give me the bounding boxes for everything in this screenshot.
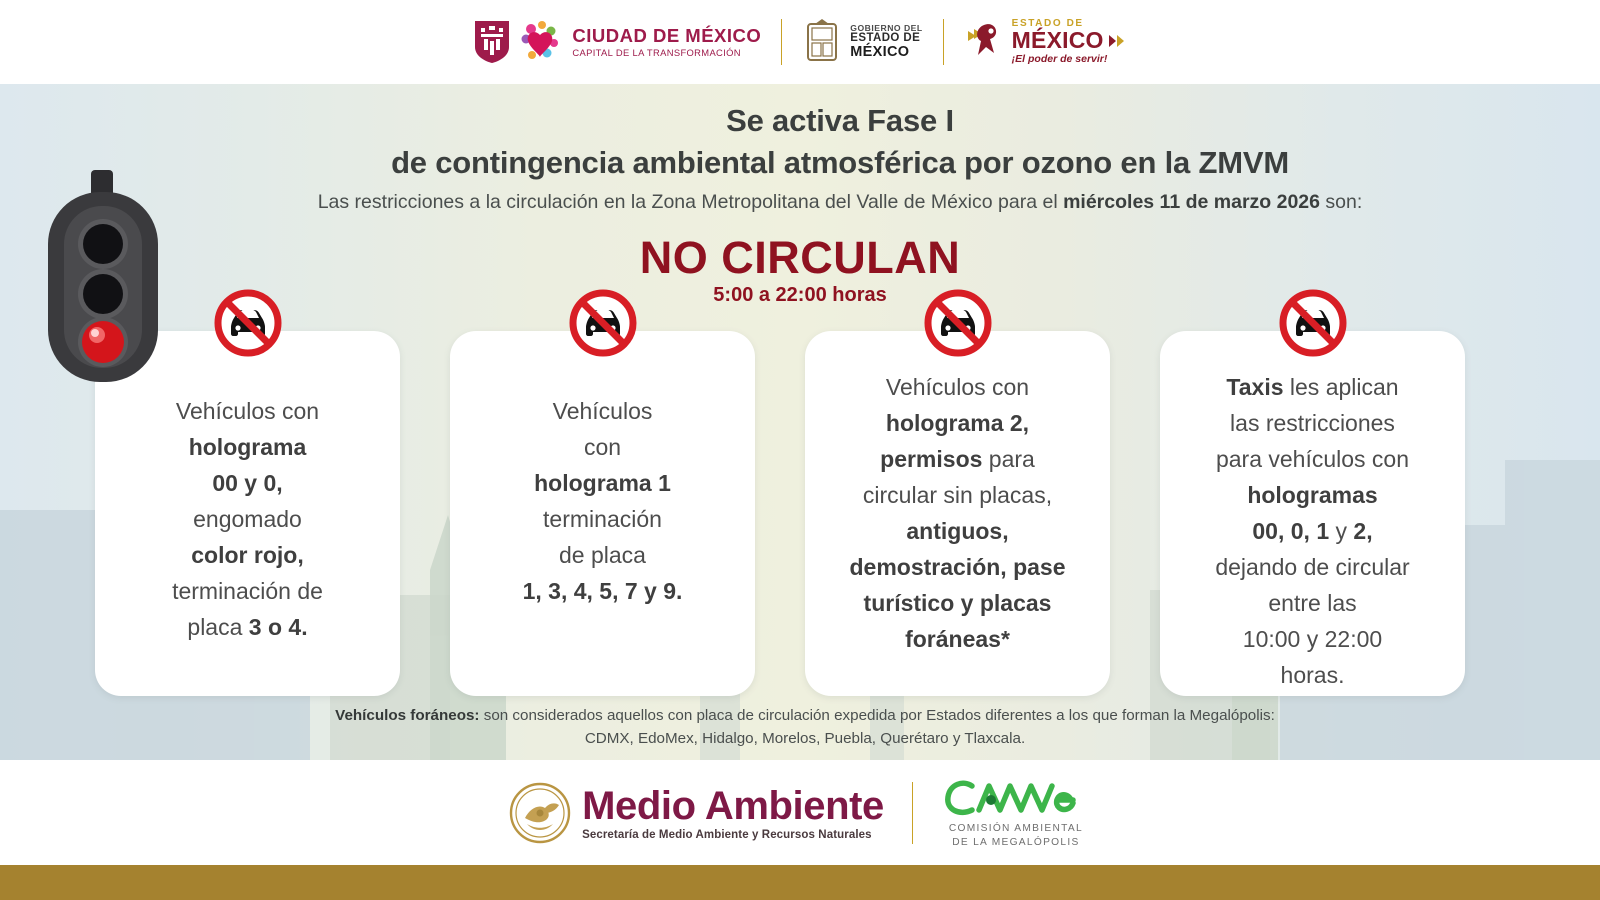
edomex-line3: MÉXICO — [850, 45, 922, 60]
foreign-vehicles-footnote: Vehículos foráneos: son considerados aqu… — [160, 704, 1450, 750]
headline-line-2: de contingencia ambiental atmosférica po… — [190, 142, 1490, 184]
edomex-bird-icon — [964, 19, 1008, 65]
card-text: Vehículos conholograma 2,permisos paraci… — [821, 369, 1094, 657]
no-car-icon — [211, 286, 285, 360]
subtitle-post: son: — [1320, 191, 1362, 213]
cdmx-logo: CIUDAD DE MÉXICO CAPITAL DE LA TRANSFORM… — [473, 17, 761, 67]
estado-mexico-wordmark: ESTADO DE MÉXICO ¡El poder de servir! — [1012, 19, 1127, 65]
footer-divider — [912, 782, 913, 844]
footnote-label: Vehículos foráneos: — [335, 707, 479, 724]
cdmx-title: CIUDAD DE MÉXICO — [572, 26, 761, 46]
cdmx-shield-icon — [473, 19, 511, 65]
emex-line3: ¡El poder de servir! — [1012, 54, 1108, 65]
estado-de-mexico-logo: ESTADO DE MÉXICO ¡El poder de servir! — [964, 19, 1127, 65]
came-logo: COMISIÓN AMBIENTAL DE LA MEGALÓPOLIS — [941, 776, 1091, 850]
headline-line-1: Se activa Fase I — [190, 100, 1490, 142]
emex-chevrons-icon — [1107, 32, 1127, 50]
traffic-light-red-icon — [28, 170, 178, 400]
no-circulan-banner: NO CIRCULAN — [0, 232, 1600, 284]
cdmx-wordmark: CIUDAD DE MÉXICO CAPITAL DE LA TRANSFORM… — [572, 26, 761, 59]
subtitle-date: miércoles 11 de marzo 2026 — [1063, 191, 1320, 213]
emex-line2: MÉXICO — [1012, 29, 1104, 53]
agency-footer: Medio Ambiente Secretaría de Medio Ambie… — [0, 760, 1600, 865]
semarnat-wordmark: Medio Ambiente Secretaría de Medio Ambie… — [582, 784, 884, 841]
subtitle-pre: Las restricciones a la circulación en la… — [318, 191, 1063, 213]
restriction-cards: Vehículos conholograma00 y 0,engomadocol… — [95, 331, 1465, 696]
restriction-card-holograma-2-permisos: Vehículos conholograma 2,permisos paraci… — [805, 331, 1110, 696]
semarnat-logo: Medio Ambiente Secretaría de Medio Ambie… — [509, 780, 884, 846]
main-stage: Se activa Fase I de contingencia ambient… — [0, 84, 1600, 760]
restriction-subtitle: Las restricciones a la circulación en la… — [170, 189, 1510, 215]
bottom-gold-bar — [0, 865, 1600, 900]
cdmx-tagline: CAPITAL DE LA TRANSFORMACIÓN — [572, 47, 761, 59]
restriction-card-taxis: Taxis les aplicanlas restriccionespara v… — [1160, 331, 1465, 696]
semarnat-subtitle: Secretaría de Medio Ambiente y Recursos … — [582, 829, 884, 841]
edomex-seal-icon — [802, 18, 842, 66]
card-text: Vehículosconholograma 1terminaciónde pla… — [466, 393, 739, 609]
no-car-icon — [921, 286, 995, 360]
infographic-root: CIUDAD DE MÉXICO CAPITAL DE LA TRANSFORM… — [0, 0, 1600, 900]
logo-divider-2 — [943, 19, 944, 65]
page-title: Se activa Fase I de contingencia ambient… — [190, 100, 1490, 184]
semarnat-title: Medio Ambiente — [582, 784, 884, 828]
came-line2: DE LA MEGALÓPOLIS — [952, 836, 1079, 850]
card-text: Taxis les aplicanlas restriccionespara v… — [1176, 369, 1449, 693]
edomex-gobierno-wordmark: GOBIERNO DEL ESTADO DE MÉXICO — [850, 24, 922, 59]
restriction-card-holograma-1: Vehículosconholograma 1terminaciónde pla… — [450, 331, 755, 696]
cdmx-flower-icon — [517, 17, 563, 67]
no-car-icon — [566, 286, 640, 360]
logo-divider-1 — [781, 19, 782, 65]
card-text: Vehículos conholograma00 y 0,engomadocol… — [111, 393, 384, 645]
government-logo-bar: CIUDAD DE MÉXICO CAPITAL DE LA TRANSFORM… — [0, 0, 1600, 84]
came-wave-logo-icon — [941, 776, 1091, 822]
edomex-gobierno-logo: GOBIERNO DEL ESTADO DE MÉXICO — [802, 18, 922, 66]
came-line1: COMISIÓN AMBIENTAL — [949, 822, 1083, 836]
footnote-body: son considerados aquellos con placa de c… — [480, 707, 1275, 724]
footnote-line-2: CDMX, EdoMex, Hidalgo, Morelos, Puebla, … — [160, 727, 1450, 750]
mexico-eagle-seal-icon — [509, 780, 571, 846]
footnote-line-1: Vehículos foráneos: son considerados aqu… — [160, 704, 1450, 727]
no-car-icon — [1276, 286, 1350, 360]
